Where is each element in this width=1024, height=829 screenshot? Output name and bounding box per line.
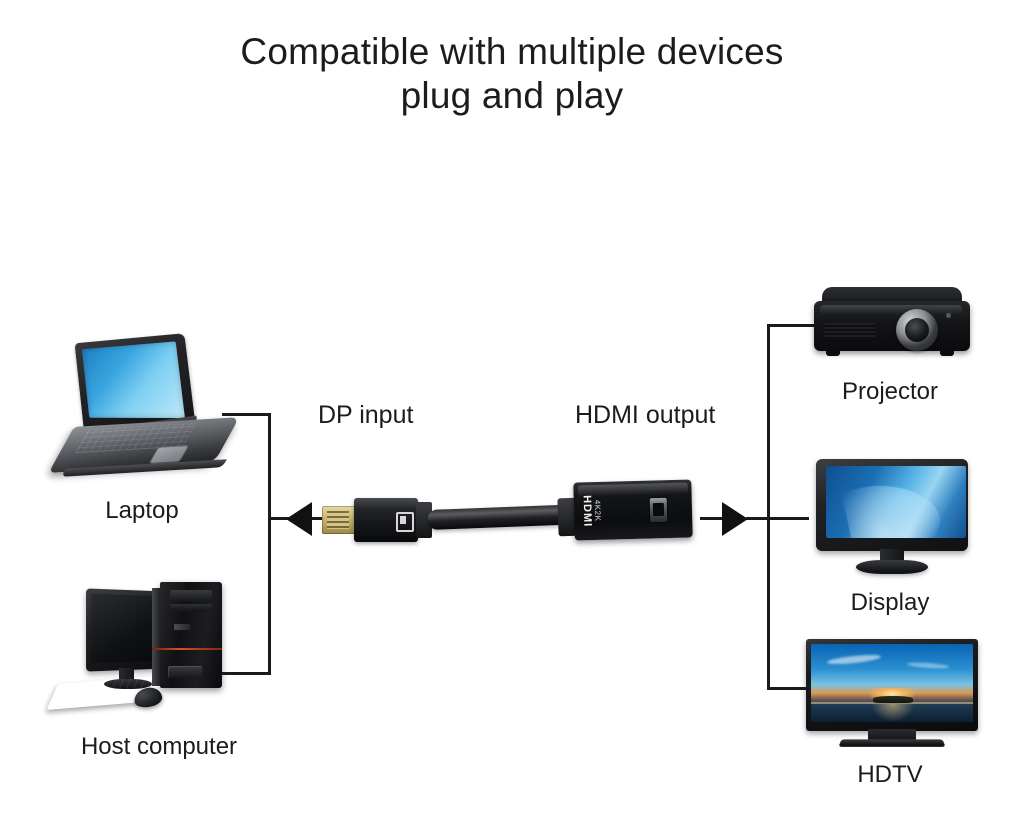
adapter-brand-text: HDMI — [581, 495, 593, 527]
title-line-1: Compatible with multiple devices — [240, 31, 783, 72]
left-bracket-stub-laptop — [222, 413, 271, 416]
television-icon — [806, 639, 978, 755]
projector-label: Projector — [790, 378, 990, 406]
projector-lens — [905, 318, 929, 342]
right-bracket-stub-display — [767, 517, 809, 520]
pc-accent-stripe — [152, 648, 222, 650]
tv-cloud-right — [907, 662, 949, 670]
diagram-canvas: Compatible with multiple devices plug an… — [0, 0, 1024, 829]
pc-front-ports — [168, 666, 202, 678]
hdtv-label: HDTV — [790, 761, 990, 789]
projector-gloss — [820, 305, 962, 315]
monitor-screen — [826, 466, 966, 538]
projector-icon — [812, 287, 972, 365]
tv-bezel — [806, 639, 978, 731]
laptop-screen — [82, 341, 185, 418]
projector-foot-right — [940, 349, 954, 356]
title-line-2: plug and play — [0, 74, 1024, 118]
display-label: Display — [790, 589, 990, 617]
adapter-spec-text: 4K2K — [593, 500, 602, 522]
displayport-contacts — [322, 506, 356, 534]
monitor-icon — [812, 459, 972, 577]
tv-stand — [839, 739, 946, 746]
tv-screen — [811, 644, 973, 722]
laptop-icon — [58, 338, 238, 478]
left-bracket-stub-host — [222, 672, 271, 675]
right-bracket-vertical — [767, 324, 770, 690]
laptop-label: Laptop — [48, 497, 236, 525]
projector-sensor — [946, 313, 951, 318]
tv-island — [873, 696, 913, 703]
desktop-computer-icon — [48, 578, 248, 723]
hdmi-port-icon — [650, 498, 668, 522]
left-bracket-vertical — [268, 413, 271, 675]
projector-vent — [824, 323, 876, 337]
displayport-logo-icon — [396, 512, 414, 532]
monitor-bezel — [816, 459, 968, 551]
right-arrow-head — [722, 502, 748, 536]
left-arrow-head — [286, 502, 312, 536]
adapter-cable — [428, 505, 569, 530]
host-computer-label: Host computer — [28, 733, 290, 761]
projector-foot-left — [826, 349, 840, 356]
dp-input-label: DP input — [318, 401, 413, 430]
pc-optical-drive-bay — [170, 590, 212, 601]
monitor-stand — [856, 560, 928, 574]
hdmi-output-label: HDMI output — [575, 401, 715, 430]
tv-cloud-left — [827, 653, 881, 666]
adapter-printed-text: HDMI 4K2K — [567, 487, 614, 534]
pc-secondary-bay — [170, 604, 212, 611]
pc-brand-logo — [174, 624, 190, 630]
page-title: Compatible with multiple devices plug an… — [0, 30, 1024, 118]
pc-monitor-screen — [91, 594, 159, 663]
tv-water-reflection — [871, 704, 915, 722]
laptop-lid — [75, 333, 197, 431]
dp-to-hdmi-adapter-cable: HDMI 4K2K — [318, 470, 688, 575]
